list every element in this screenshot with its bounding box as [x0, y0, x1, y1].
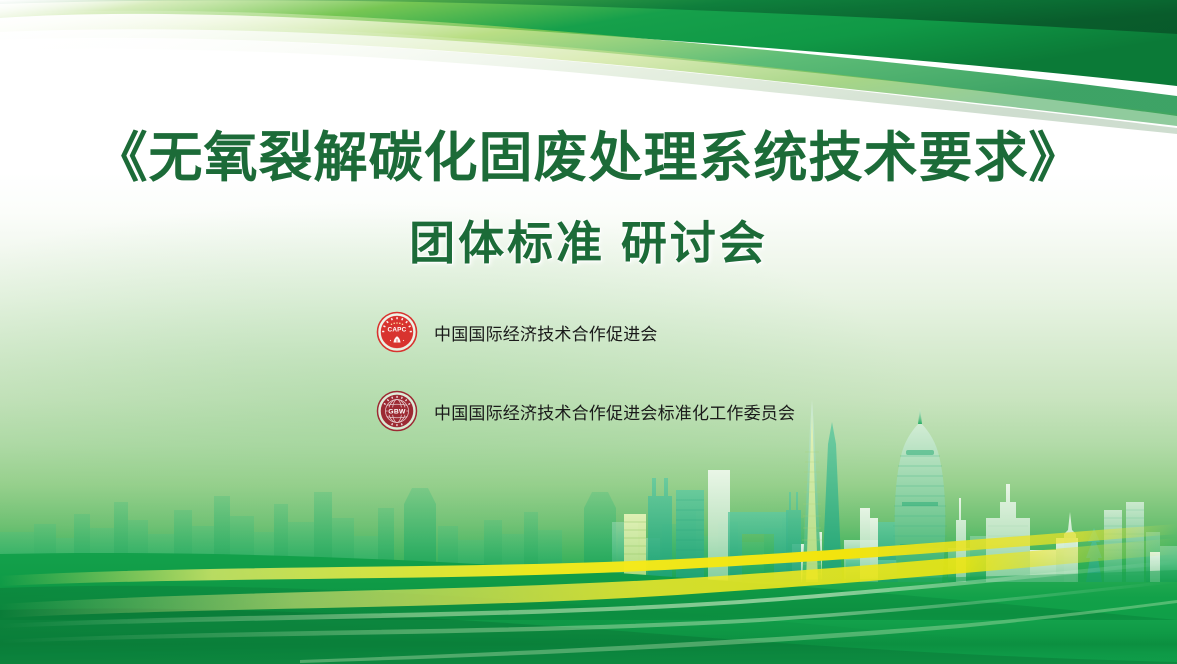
title-slide: 《无氧裂解碳化固废处理系统技术要求》 团体标准 研讨会: [0, 0, 1177, 664]
svg-text:CAPC: CAPC: [388, 327, 407, 334]
svg-text:GBW: GBW: [388, 408, 406, 415]
organization-row-capc: CAPC 中国国际经济技术合作促进会: [376, 311, 658, 353]
capc-seal-icon: CAPC: [376, 311, 418, 353]
page-subtitle: 团体标准 研讨会: [0, 207, 1177, 273]
organization-label: 中国国际经济技术合作促进会标准化工作委员会: [434, 399, 795, 424]
organization-label: 中国国际经济技术合作促进会: [434, 320, 658, 345]
organization-row-gbw: GBW 中国国际经济技术合作促进会标准化工作委员会: [376, 390, 795, 432]
page-title: 《无氧裂解碳化固废处理系统技术要求》: [0, 113, 1177, 192]
slide-content: 《无氧裂解碳化固废处理系统技术要求》 团体标准 研讨会: [0, 0, 1177, 664]
gbw-seal-icon: GBW: [376, 390, 418, 432]
